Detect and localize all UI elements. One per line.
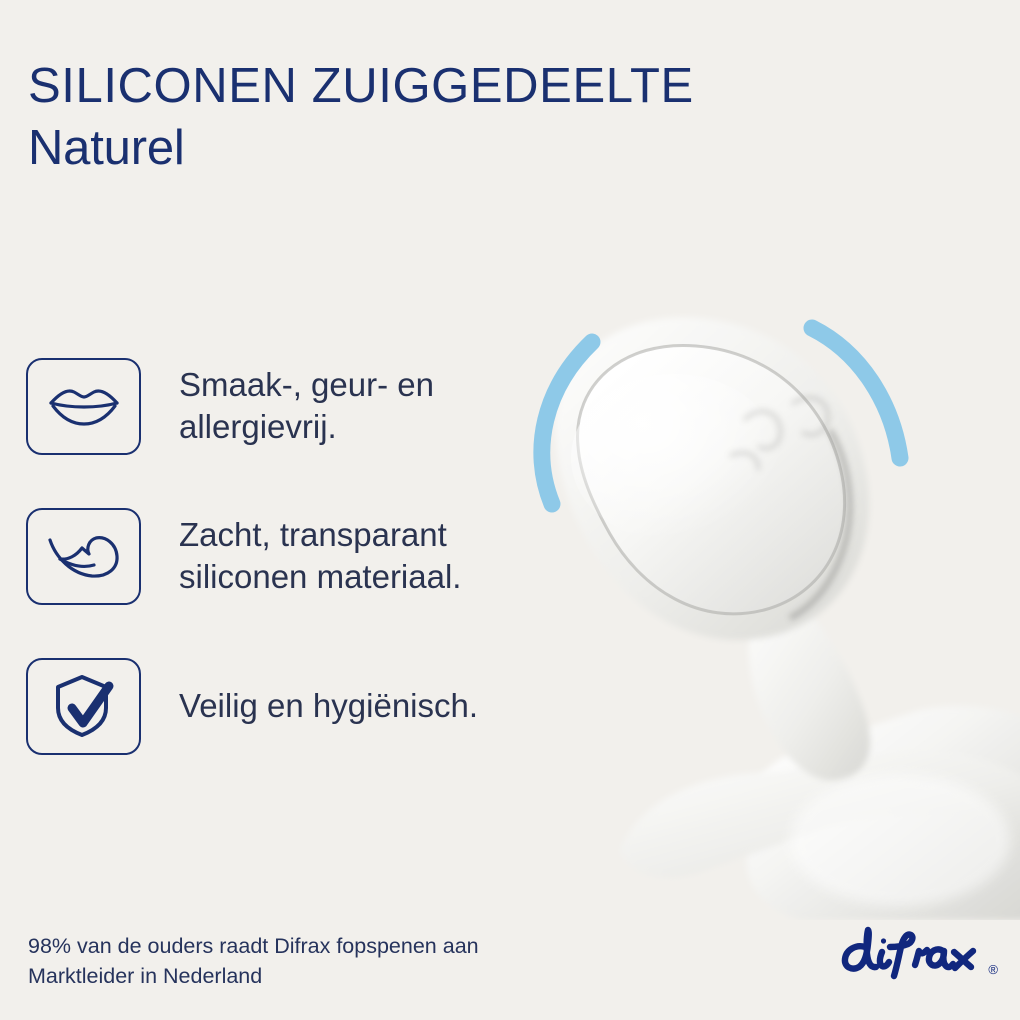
arc-right-icon — [812, 328, 900, 458]
lips-icon — [48, 384, 120, 428]
claim-line-1: 98% van de ouders raadt Difrax fopspenen… — [28, 931, 479, 962]
pacifier-bulb-inner — [578, 345, 845, 613]
claim-line-2: Marktleider in Nederland — [28, 961, 479, 992]
page-title: SILICONEN ZUIGGEDEELTE Naturel — [28, 62, 748, 173]
feature-icon-box — [26, 358, 141, 455]
footer-claim: 98% van de ouders raadt Difrax fopspenen… — [28, 931, 479, 992]
feature-label: Veilig en hygiënisch. — [179, 685, 478, 727]
pacifier-body — [555, 318, 1020, 920]
pacifier-bulb-seam — [578, 345, 845, 613]
product-feature-poster: SILICONEN ZUIGGEDEELTE Naturel — [0, 0, 1020, 1020]
shield-check-icon — [51, 674, 117, 738]
pacifier-base — [746, 706, 1020, 920]
pacifier-embossed-mark — [730, 398, 828, 470]
registered-mark: ® — [988, 962, 998, 977]
product-image — [500, 280, 1020, 920]
feature-label: Smaak-, geur- en allergievrij. — [179, 364, 539, 448]
feature-list: Smaak-, geur- en allergievrij. Zacht, tr… — [26, 356, 546, 756]
pacifier-neck — [749, 580, 870, 781]
feature-icon-box — [26, 508, 141, 605]
feature-item-soft-material: Zacht, transparant siliconen materiaal. — [26, 506, 546, 606]
feature-item-safe-hygienic: Veilig en hygiënisch. — [26, 656, 546, 756]
title-line-2: Naturel — [28, 124, 748, 173]
feature-icon-box — [26, 658, 141, 755]
pacifier-bulb-shell — [555, 318, 869, 640]
arc-left-icon — [542, 342, 592, 504]
feather-icon — [46, 532, 122, 580]
pacifier-lip-flange — [620, 749, 1020, 877]
difrax-logo: ® — [838, 924, 998, 986]
pacifier-base-highlight — [790, 774, 1010, 906]
pacifier-gloss-highlight — [571, 374, 779, 542]
feature-label: Zacht, transparant siliconen materiaal. — [179, 514, 539, 598]
difrax-wordmark-icon — [838, 924, 986, 986]
pacifier-edge-shadow — [790, 430, 850, 618]
feature-item-taste: Smaak-, geur- en allergievrij. — [26, 356, 546, 456]
title-line-1: SILICONEN ZUIGGEDEELTE — [28, 62, 748, 111]
accent-arcs — [500, 280, 1020, 920]
